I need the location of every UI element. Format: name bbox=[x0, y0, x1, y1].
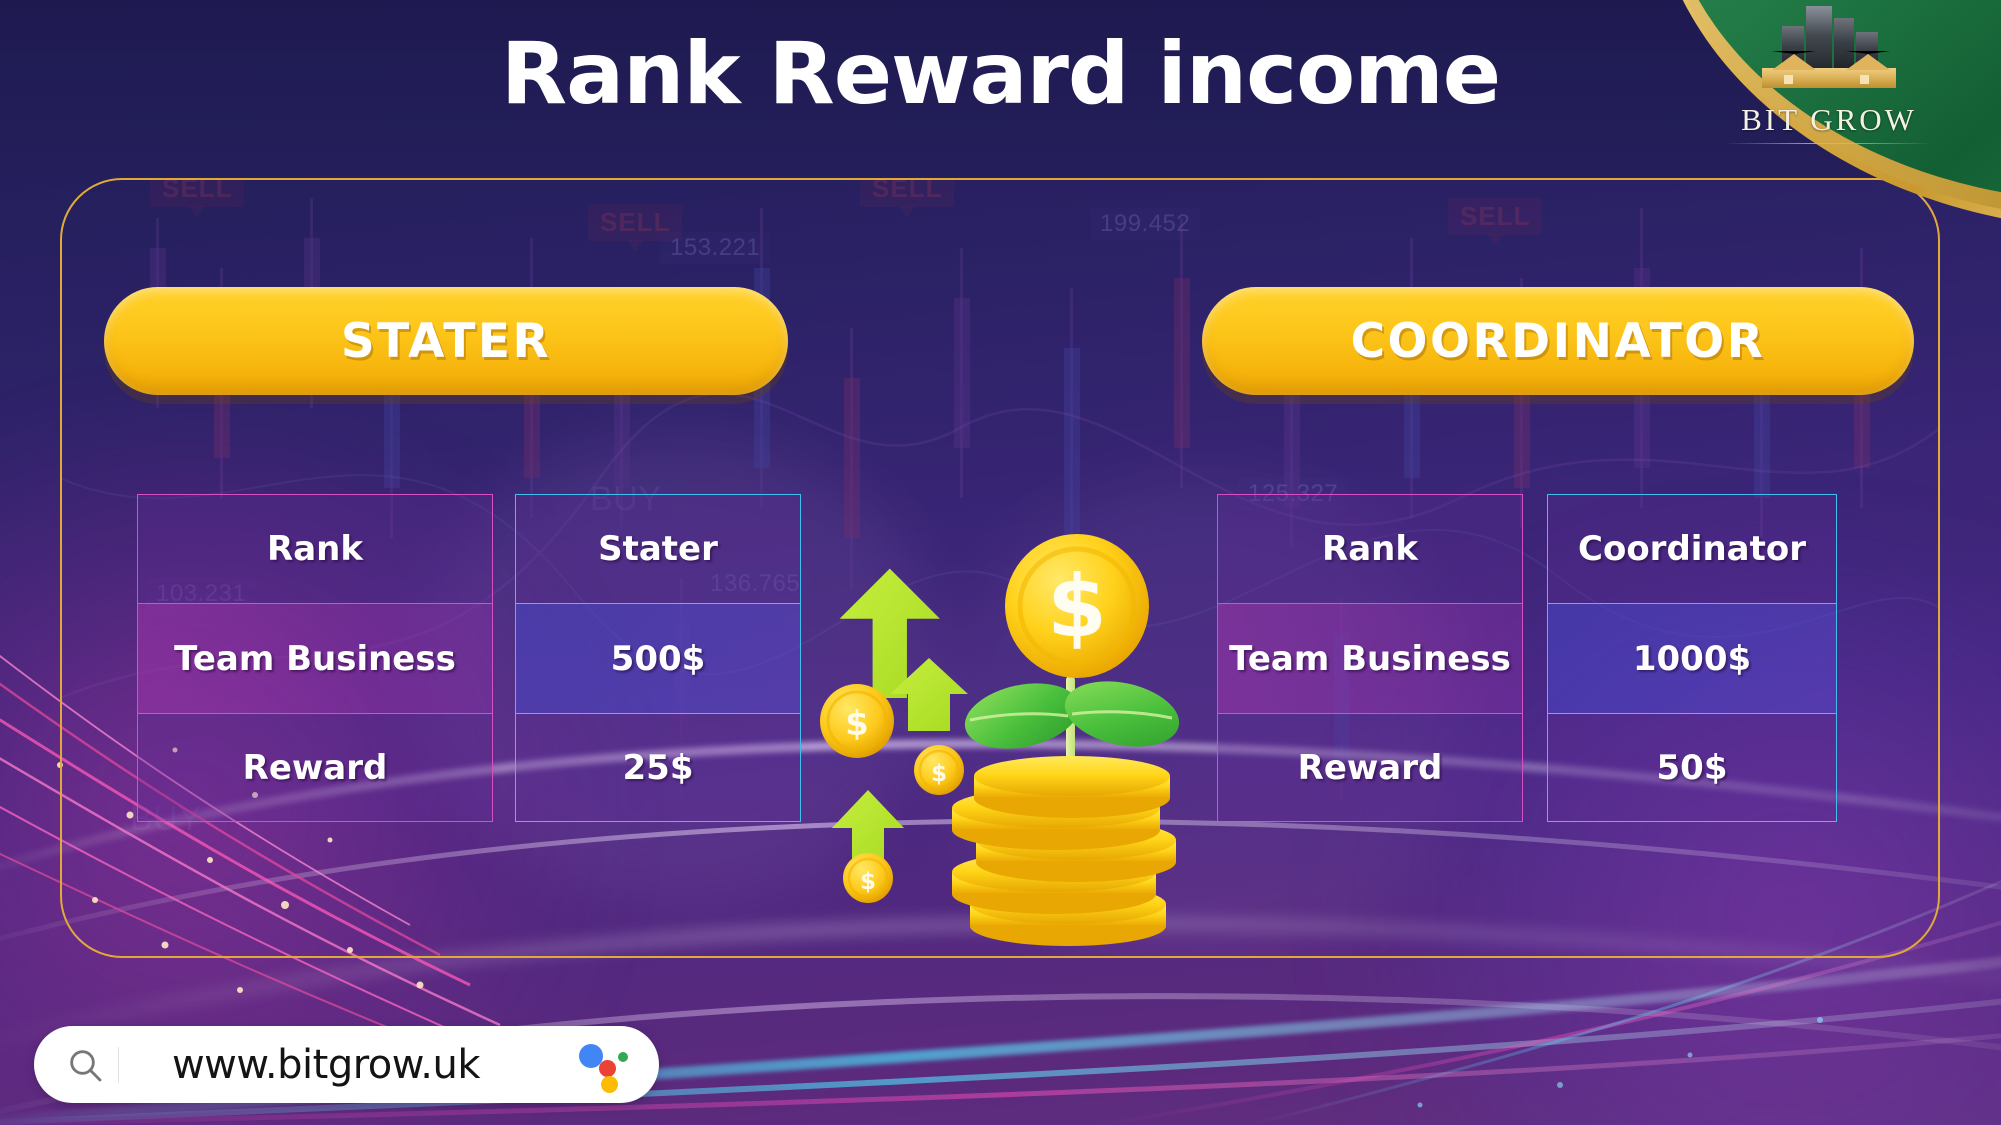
table-row: Coordinator bbox=[1547, 494, 1837, 604]
table-row: 25$ bbox=[515, 714, 801, 822]
rank-heading-stater[interactable]: STATER bbox=[104, 287, 788, 395]
table-row: 50$ bbox=[1547, 714, 1837, 822]
svg-text:$: $ bbox=[1047, 557, 1107, 657]
magnifier-icon[interactable] bbox=[64, 1044, 106, 1086]
coin-stack-growth-icon: $ $ $ $ bbox=[800, 528, 1200, 948]
table-row: Rank bbox=[1217, 494, 1523, 604]
table-row: Team Business bbox=[137, 604, 493, 714]
svg-text:$: $ bbox=[845, 704, 869, 744]
coordinator-label-column: Rank Team Business Reward bbox=[1217, 494, 1523, 822]
stater-label-column: Rank Team Business Reward bbox=[137, 494, 493, 822]
table-row: Reward bbox=[137, 714, 493, 822]
table-row: 1000$ bbox=[1547, 604, 1837, 714]
brand-logo: BIT GROW bbox=[1665, 0, 2001, 250]
rank-heading-coordinator[interactable]: COORDINATOR bbox=[1202, 287, 1914, 395]
google-assistant-icon[interactable] bbox=[579, 1038, 633, 1092]
stater-value-column: Stater 500$ 25$ bbox=[515, 494, 801, 822]
rank-heading-coordinator-label: COORDINATOR bbox=[1351, 314, 1766, 369]
brand-name: BIT GROW bbox=[1741, 102, 1917, 138]
svg-text:$: $ bbox=[931, 761, 947, 787]
coordinator-table: Rank Team Business Reward Coordinator 10… bbox=[1217, 494, 1837, 822]
search-input[interactable]: www.bitgrow.uk bbox=[119, 1042, 579, 1088]
table-row: Team Business bbox=[1217, 604, 1523, 714]
coordinator-value-column: Coordinator 1000$ 50$ bbox=[1547, 494, 1837, 822]
building-house-logo-icon bbox=[1754, 12, 1904, 98]
table-row: Reward bbox=[1217, 714, 1523, 822]
table-row: 500$ bbox=[515, 604, 801, 714]
search-bar[interactable]: www.bitgrow.uk bbox=[34, 1026, 659, 1103]
svg-text:$: $ bbox=[860, 869, 876, 895]
table-row: Rank bbox=[137, 494, 493, 604]
table-row: Stater bbox=[515, 494, 801, 604]
slide-canvas: SELL SELL SELL SELL 153.221 199.452 136.… bbox=[0, 0, 2001, 1125]
rank-heading-stater-label: STATER bbox=[341, 314, 551, 369]
stater-table: Rank Team Business Reward Stater 500$ 25… bbox=[137, 494, 801, 822]
